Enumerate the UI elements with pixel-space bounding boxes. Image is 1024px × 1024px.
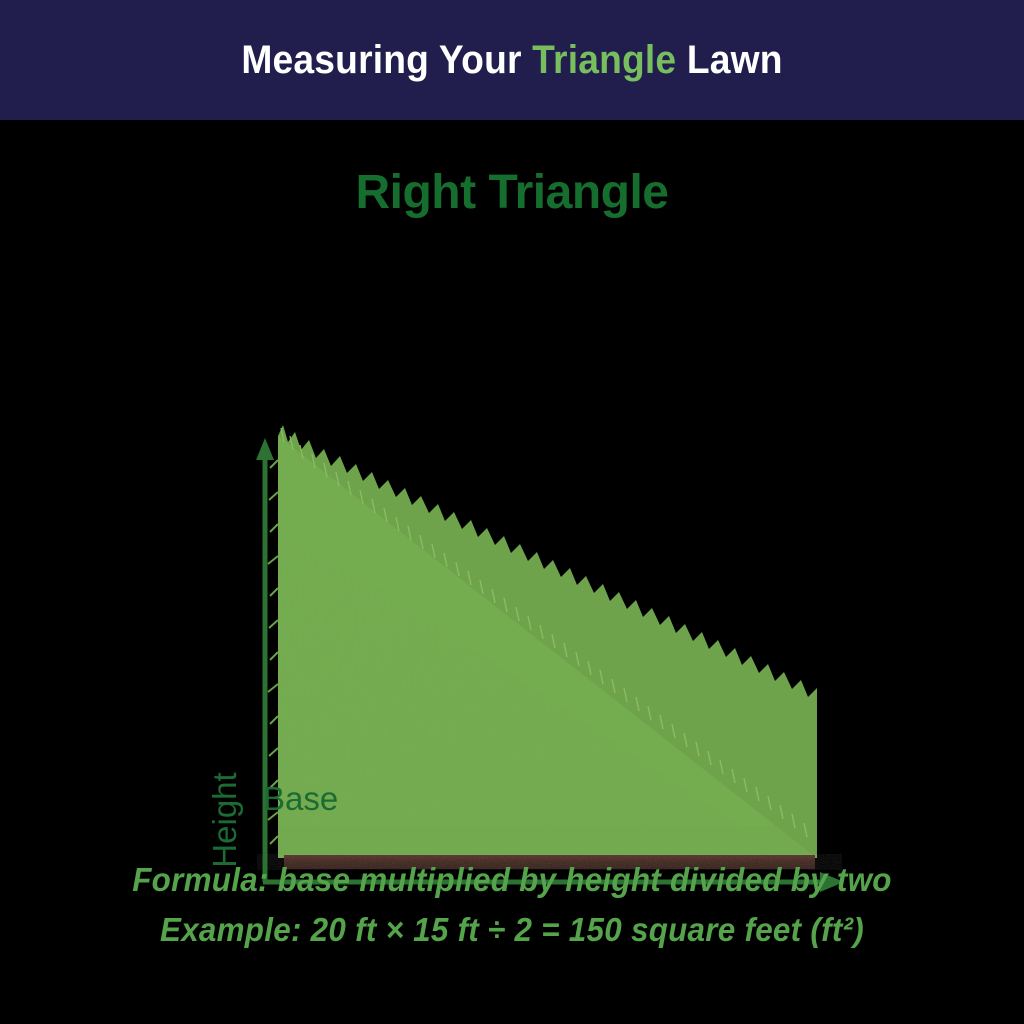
grass-ragged-edge	[278, 425, 817, 858]
example-line: Example: 20 ft × 15 ft ÷ 2 = 150 square …	[26, 905, 999, 955]
page-title: Measuring Your Triangle Lawn	[241, 38, 782, 83]
y-axis-arrowhead	[256, 438, 274, 460]
y-axis-label: Height	[206, 772, 244, 867]
example-text: 20 ft × 15 ft ÷ 2 = 150 square feet (ft²…	[302, 911, 864, 948]
formula-line: Formula: base multiplied by height divid…	[26, 855, 999, 905]
formula-text: base multiplied by height divided by two	[269, 861, 892, 898]
page-title-prefix: Measuring Your	[241, 38, 532, 82]
header-band: Measuring Your Triangle Lawn	[0, 0, 1024, 120]
content-stage: Right Triangle	[0, 120, 1024, 1024]
page-title-accent: Triangle	[532, 38, 676, 82]
formula-block: Formula: base multiplied by height divid…	[0, 855, 1024, 954]
x-axis-label: Base	[263, 780, 338, 818]
formula-label: Formula:	[132, 861, 268, 898]
page-title-suffix: Lawn	[676, 38, 782, 82]
example-label: Example:	[160, 911, 302, 948]
